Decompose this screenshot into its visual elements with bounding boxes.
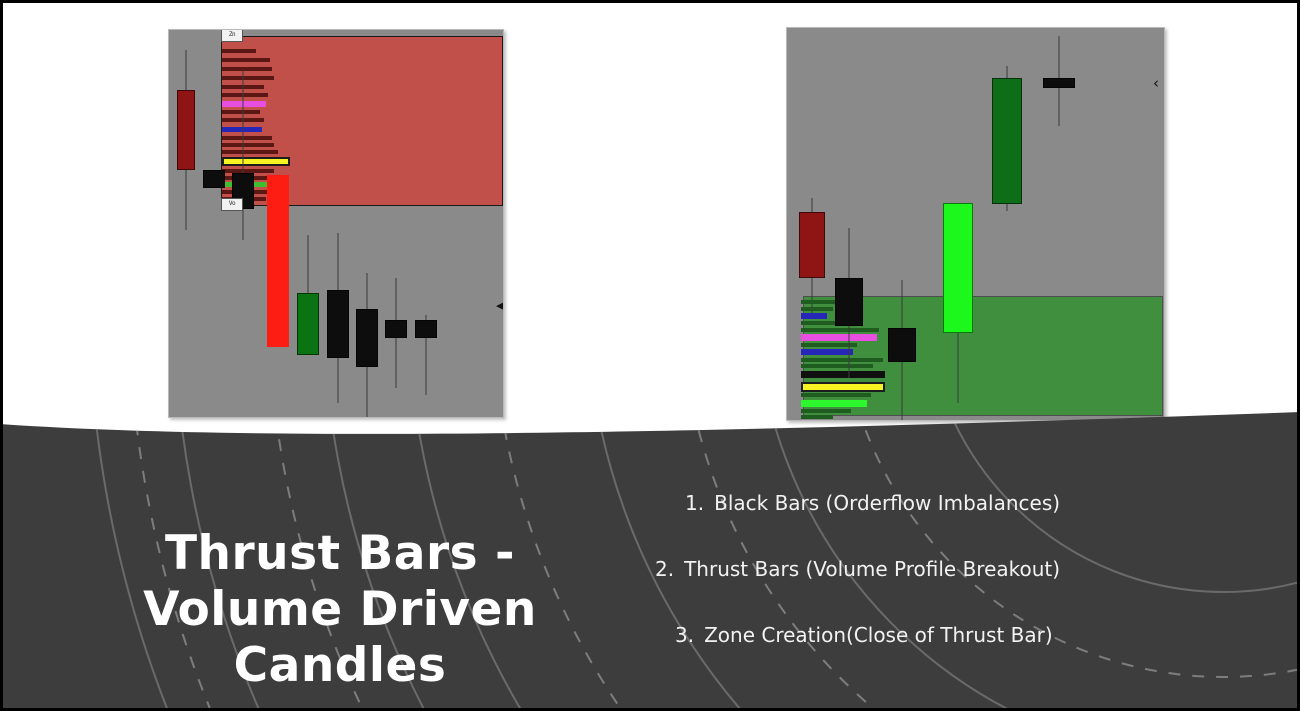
list-item: 3.Zone Creation(Close of Thrust Bar) <box>643 623 1143 647</box>
bullet-list: 1.Black Bars (Orderflow Imbalances) 2.Th… <box>643 491 1143 689</box>
title-line-1: Thrust Bars - <box>165 526 515 581</box>
slide-canvas: Zn Vo ◀ <box>0 0 1300 711</box>
title-line-2: Volume Driven Candles <box>33 582 647 694</box>
list-item-number: 1. <box>685 491 704 515</box>
list-item: 2.Thrust Bars (Volume Profile Breakout) <box>643 557 1143 581</box>
list-item: 1.Black Bars (Orderflow Imbalances) <box>643 491 1143 515</box>
page-title: Thrust Bars - Volume Driven Candles <box>33 526 647 694</box>
band-text-layer: Thrust Bars - Volume Driven Candles 1.Bl… <box>3 3 1300 711</box>
list-item-label: Black Bars (Orderflow Imbalances) <box>714 491 1060 515</box>
list-item-label: Thrust Bars (Volume Profile Breakout) <box>684 557 1060 581</box>
list-item-number: 2. <box>655 557 674 581</box>
list-item-label: Zone Creation(Close of Thrust Bar) <box>704 623 1053 647</box>
list-item-number: 3. <box>675 623 694 647</box>
